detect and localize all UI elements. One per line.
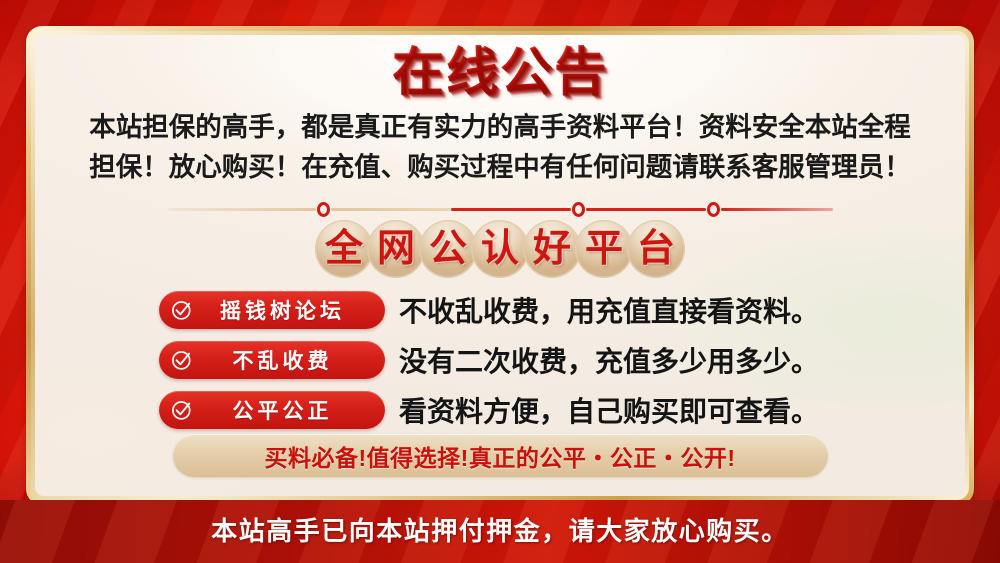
- feature-description: 看资料方便，自己购买即可查看。: [399, 390, 819, 430]
- badge-circle: 全: [315, 220, 373, 278]
- footer-bar: 本站高手已向本站押付押金，请大家放心购买。: [0, 500, 1000, 563]
- check-circle-icon: [170, 398, 194, 422]
- slogan-container: 买料必备!值得选择!真正的公平・公正・公开!: [35, 434, 965, 477]
- check-circle-icon: [170, 348, 194, 372]
- feature-pill-label: 公平公正: [194, 395, 385, 425]
- gold-frame-inner: 在线公告 本站担保的高手，都是真正有实力的高手资料平台！资料安全本站全程 担保！…: [31, 31, 969, 500]
- divider-ring-icon: [317, 202, 330, 217]
- list-item: 摇钱树论坛 不收乱收费，用充值直接看资料。: [35, 285, 965, 335]
- badge-char: 公: [429, 230, 467, 268]
- intro-line-2: 担保！放心购买！在充值、购买过程中有任何问题请联系客服管理员！: [57, 147, 943, 187]
- feature-pill[interactable]: 公平公正: [159, 391, 385, 429]
- feature-pill-label: 摇钱树论坛: [194, 295, 385, 325]
- intro-paragraph: 本站担保的高手，都是真正有实力的高手资料平台！资料安全本站全程 担保！放心购买！…: [57, 107, 943, 187]
- badge-char: 认: [481, 230, 519, 268]
- divider-segment: [586, 208, 706, 211]
- decorative-divider: [35, 198, 965, 220]
- intro-line-1: 本站担保的高手，都是真正有实力的高手资料平台！资料安全本站全程: [57, 107, 943, 147]
- feature-pill-label: 不乱收费: [194, 345, 385, 375]
- platform-badge-band: 全 网 公 认 好 平 台: [35, 220, 965, 278]
- badge-char: 平: [585, 230, 623, 268]
- feature-list: 摇钱树论坛 不收乱收费，用充值直接看资料。 不乱收费: [35, 285, 965, 435]
- divider-ring-icon: [572, 202, 585, 217]
- feature-description: 没有二次收费，充值多少用多少。: [399, 340, 819, 380]
- check-circle-icon: [170, 298, 194, 322]
- badge-circle: 平: [575, 220, 633, 278]
- slogan-banner: 买料必备!值得选择!真正的公平・公正・公开!: [173, 434, 828, 477]
- feature-pill[interactable]: 不乱收费: [159, 341, 385, 379]
- badge-circle: 网: [367, 220, 425, 278]
- divider-segment: [168, 208, 316, 211]
- content-panel: 在线公告 本站担保的高手，都是真正有实力的高手资料平台！资料安全本站全程 担保！…: [35, 35, 965, 496]
- badge-circle: 好: [523, 220, 581, 278]
- divider-segment: [721, 208, 833, 211]
- feature-pill[interactable]: 摇钱树论坛: [159, 291, 385, 329]
- feature-description: 不收乱收费，用充值直接看资料。: [399, 290, 819, 330]
- badge-char: 台: [637, 230, 675, 268]
- divider-ring-icon: [707, 202, 720, 217]
- badge-char: 网: [377, 230, 415, 268]
- badge-circle: 认: [471, 220, 529, 278]
- badge-char: 全: [325, 230, 363, 268]
- badge-char: 好: [533, 230, 571, 268]
- footer-text: 本站高手已向本站押付押金，请大家放心购买。: [0, 500, 1000, 563]
- badge-circle: 公: [419, 220, 477, 278]
- gold-frame-outer: 在线公告 本站担保的高手，都是真正有实力的高手资料平台！资料安全本站全程 担保！…: [26, 26, 974, 505]
- list-item: 不乱收费 没有二次收费，充值多少用多少。: [35, 335, 965, 385]
- divider-segment: [331, 208, 451, 211]
- divider-segment: [451, 208, 571, 211]
- announcement-banner: 在线公告 本站担保的高手，都是真正有实力的高手资料平台！资料安全本站全程 担保！…: [0, 0, 1000, 563]
- page-title: 在线公告: [35, 39, 965, 107]
- badge-circle: 台: [627, 220, 685, 278]
- list-item: 公平公正 看资料方便，自己购买即可查看。: [35, 385, 965, 435]
